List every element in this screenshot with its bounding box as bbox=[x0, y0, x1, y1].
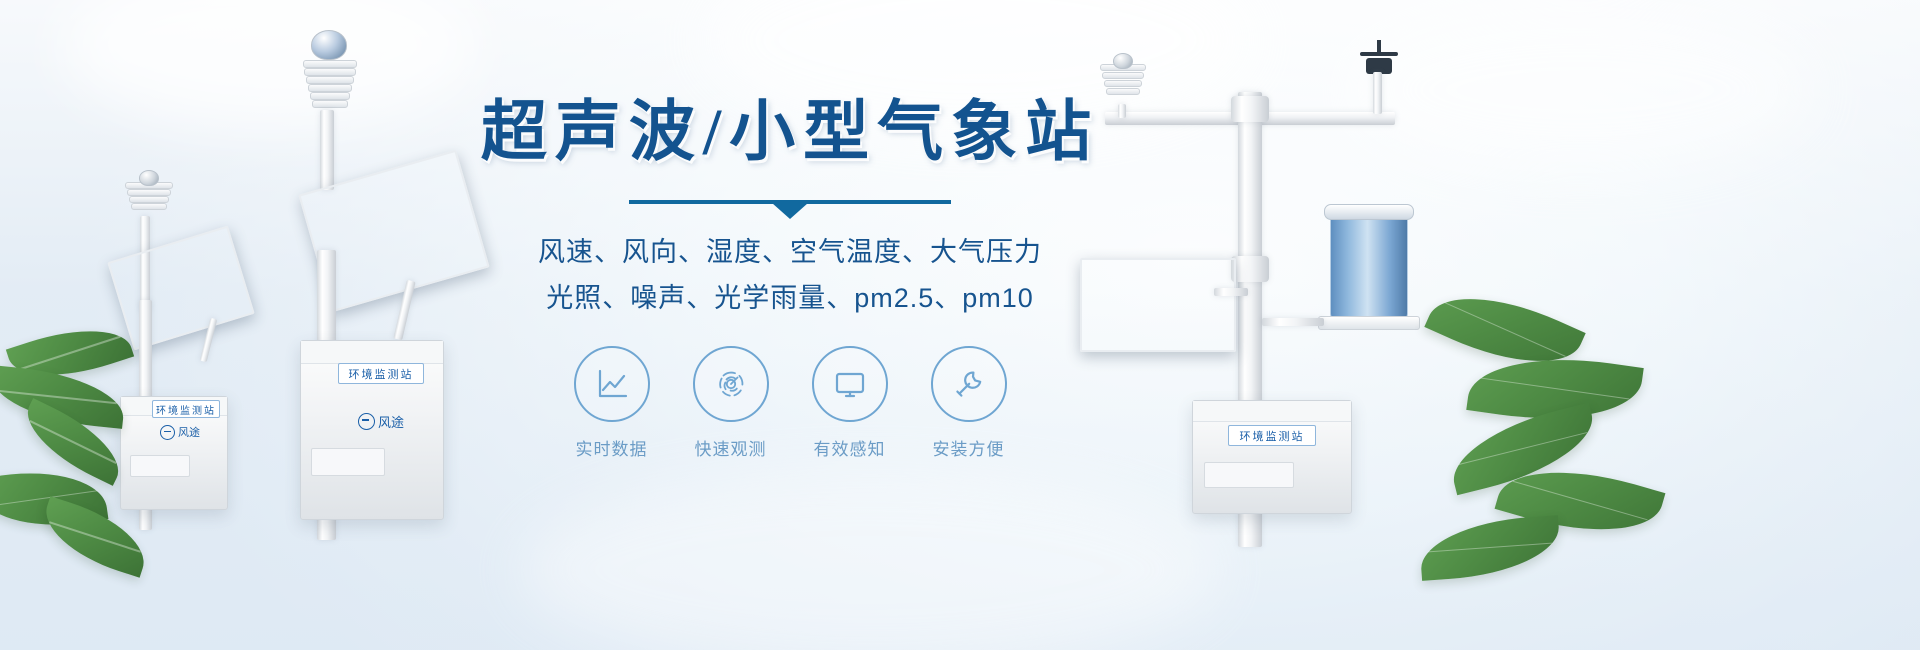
enclosure-label: 环境监测站 bbox=[156, 402, 216, 417]
feature-item-easy-install[interactable]: 安装方便 bbox=[930, 346, 1008, 460]
ultrasonic-sensor-head bbox=[125, 178, 171, 218]
optical-dome-sensor bbox=[311, 30, 347, 60]
solar-panel bbox=[107, 226, 254, 351]
rain-gauge-rim bbox=[1324, 204, 1414, 220]
vane-mast bbox=[1373, 72, 1382, 114]
feature-label: 快速观测 bbox=[692, 435, 770, 460]
banner-subtitle-line-1: 风速、风向、湿度、空气温度、大气压力 bbox=[440, 230, 1140, 274]
brand-mark-icon bbox=[358, 413, 375, 430]
feature-icon-circle bbox=[693, 346, 769, 422]
radar-scan-icon bbox=[711, 364, 751, 404]
mast-collar bbox=[1231, 96, 1269, 122]
brand-logo: 风途 bbox=[358, 412, 404, 431]
cloud-decoration bbox=[1350, 10, 1810, 170]
feature-item-effective-sensing[interactable]: 有效感知 bbox=[811, 346, 889, 460]
enclosure-label-tag: 环境监测站 bbox=[1228, 425, 1316, 446]
feature-label: 有效感知 bbox=[811, 435, 889, 460]
feature-label: 安装方便 bbox=[930, 435, 1008, 460]
enclosure-vent bbox=[1204, 462, 1294, 488]
banner-subtitle-line-2: 光照、噪声、光学雨量、pm2.5、pm10 bbox=[440, 276, 1140, 320]
brand-name: 风途 bbox=[378, 412, 404, 431]
line-chart-icon bbox=[592, 364, 632, 404]
feature-icon-circle bbox=[812, 346, 888, 422]
title-divider bbox=[629, 200, 951, 204]
wrench-icon bbox=[949, 364, 989, 404]
banner-text-block: 超声波/小型气象站 风速、风向、湿度、空气温度、大气压力 光照、噪声、光学雨量、… bbox=[440, 100, 1140, 460]
rain-gauge-body bbox=[1330, 210, 1408, 320]
enclosure-vent bbox=[311, 448, 385, 476]
enclosure-label-tag: 环境监测站 bbox=[152, 400, 220, 418]
shelf-arm bbox=[1262, 318, 1324, 326]
brand-name: 风途 bbox=[178, 424, 200, 440]
feature-item-fast-observation[interactable]: 快速观测 bbox=[692, 346, 770, 460]
panel-arm bbox=[1214, 288, 1248, 296]
brand-logo: 风途 bbox=[160, 424, 200, 440]
feature-list: 实时数据 bbox=[440, 346, 1140, 460]
mast-collar bbox=[1231, 256, 1269, 282]
monitor-screen-icon bbox=[830, 364, 870, 404]
feature-icon-circle bbox=[574, 346, 650, 422]
enclosure-label: 环境监测站 bbox=[1240, 428, 1305, 444]
product-banner: 环境监测站 风途 环境监测站 风途 bbox=[0, 0, 1920, 650]
enclosure-vent bbox=[130, 455, 190, 477]
ultrasonic-sensor-head bbox=[303, 60, 355, 116]
rain-gauge-shelf bbox=[1318, 316, 1420, 330]
divider-triangle-icon bbox=[772, 203, 808, 219]
enclosure-label-tag: 环境监测站 bbox=[338, 363, 424, 384]
cloud-decoration bbox=[520, 470, 1220, 650]
feature-label: 实时数据 bbox=[573, 435, 651, 460]
mast-upper bbox=[320, 110, 334, 190]
enclosure-box bbox=[1192, 400, 1352, 514]
cloud-decoration bbox=[60, 0, 480, 130]
feature-item-realtime-data[interactable]: 实时数据 bbox=[573, 346, 651, 460]
wind-vane-shaft bbox=[1377, 40, 1381, 54]
feature-icon-circle bbox=[931, 346, 1007, 422]
banner-title: 超声波/小型气象站 bbox=[440, 100, 1140, 166]
brand-mark-icon bbox=[160, 425, 175, 440]
enclosure-label: 环境监测站 bbox=[349, 366, 414, 382]
